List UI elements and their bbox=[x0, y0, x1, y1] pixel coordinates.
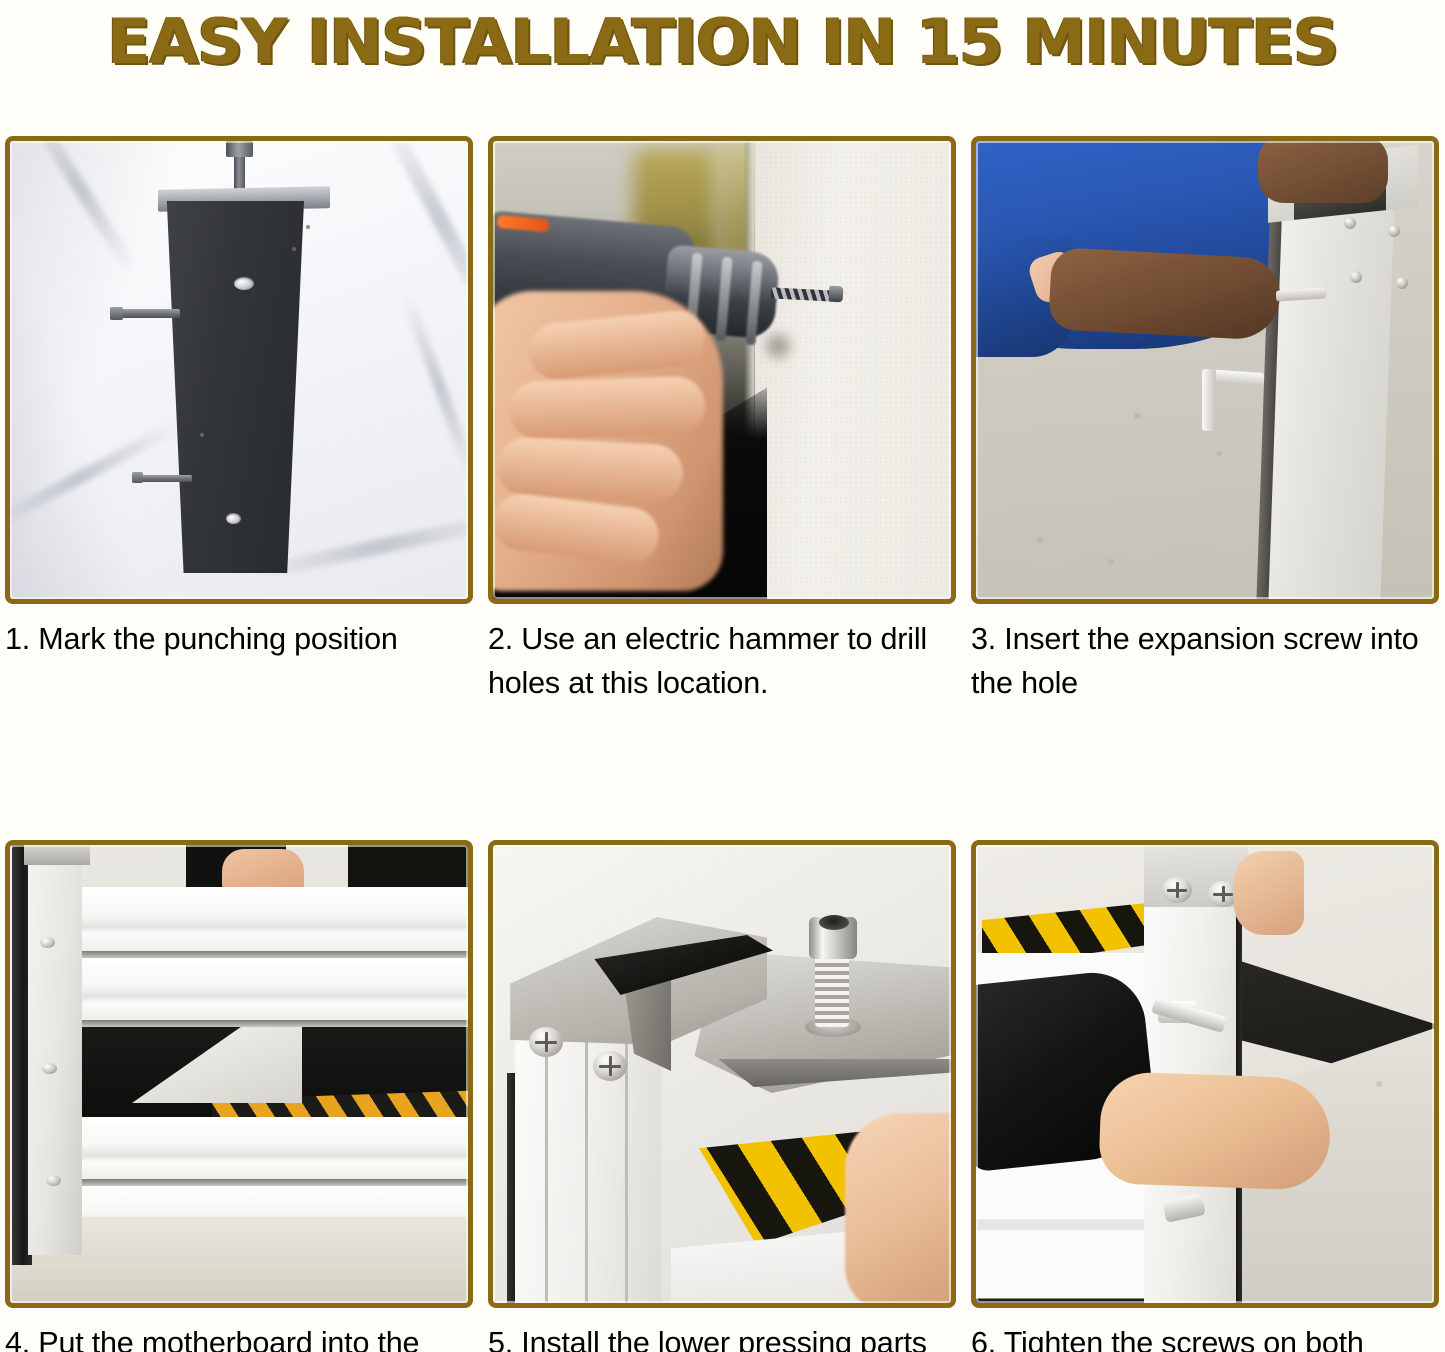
installer-thumb bbox=[845, 1113, 951, 1303]
phillips-screw bbox=[1162, 877, 1192, 903]
step-caption-4: 4. Put the motherboard into the card slo… bbox=[5, 1321, 473, 1352]
bolt-head-lower bbox=[132, 472, 143, 483]
column-screw bbox=[1344, 217, 1356, 229]
column-groove bbox=[545, 1015, 548, 1303]
column-screw bbox=[1396, 277, 1408, 289]
worker-second-hand bbox=[1258, 141, 1388, 203]
surface-speck bbox=[292, 247, 296, 251]
floor-speck bbox=[1036, 537, 1044, 543]
step-card-4: 4. Put the motherboard into the card slo… bbox=[5, 840, 473, 1352]
barrier-board bbox=[74, 1117, 468, 1179]
step-image-frame-4 bbox=[5, 840, 473, 1308]
page-title: EASY INSTALLATION IN 15 MINUTES bbox=[107, 11, 1337, 73]
step-photo-5 bbox=[493, 845, 951, 1303]
step-photo-2 bbox=[493, 141, 951, 599]
column-groove bbox=[585, 1015, 588, 1303]
step-photo-6 bbox=[976, 845, 1434, 1303]
column-screw bbox=[40, 937, 55, 948]
step-caption-1: 1. Mark the punching position bbox=[5, 617, 473, 661]
step-photo-3 bbox=[976, 141, 1434, 599]
step-image-frame-1 bbox=[5, 136, 473, 604]
expansion-bolt-lower bbox=[136, 475, 192, 482]
steps-row-top: 1. Mark the punching position bbox=[5, 136, 1440, 705]
step-image-frame-3 bbox=[971, 136, 1439, 604]
step-image-frame-5 bbox=[488, 840, 956, 1308]
column-screw bbox=[1388, 225, 1400, 237]
phillips-screw bbox=[593, 1051, 627, 1081]
floor-speck bbox=[1134, 413, 1141, 419]
barrier-board bbox=[74, 887, 468, 951]
column-cap bbox=[24, 845, 90, 865]
step-image-frame-2 bbox=[488, 136, 956, 604]
board-shadow bbox=[74, 951, 468, 958]
infographic-page: EASY INSTALLATION IN 15 MINUTES bbox=[0, 0, 1445, 1352]
step-photo-1 bbox=[10, 141, 468, 599]
phillips-screw bbox=[529, 1027, 563, 1057]
step-card-2: 2. Use an electric hammer to drill holes… bbox=[488, 136, 956, 705]
bolt-head-upper bbox=[110, 307, 123, 320]
board-shadow bbox=[74, 1020, 468, 1027]
column-hole-lower bbox=[226, 513, 241, 524]
column-screw bbox=[1350, 271, 1362, 283]
step-photo-4 bbox=[10, 845, 468, 1303]
bolt-socket-hole bbox=[819, 915, 849, 930]
drill-bit-tip bbox=[829, 286, 844, 303]
floor-speck bbox=[1216, 451, 1222, 456]
column-screw bbox=[42, 1063, 57, 1074]
barrier-board bbox=[74, 958, 468, 1020]
steps-row-bottom: 4. Put the motherboard into the card slo… bbox=[5, 840, 1440, 1352]
expansion-bolt-upper bbox=[114, 309, 180, 318]
step-caption-3: 3. Insert the expansion screw into the h… bbox=[971, 617, 1439, 705]
white-column bbox=[1268, 159, 1396, 599]
installer-second-hand bbox=[1234, 851, 1304, 935]
rod-nut bbox=[226, 141, 253, 157]
worker-arm bbox=[1048, 247, 1282, 341]
bolt-threaded-shaft bbox=[815, 951, 849, 1027]
slotted-column bbox=[28, 845, 82, 1255]
step-card-6: 6. Tighten the screws on both sides of t… bbox=[971, 840, 1439, 1352]
step-caption-5: 5. Install the lower pressing parts on b… bbox=[488, 1321, 956, 1352]
board-shadow bbox=[74, 1179, 468, 1186]
textured-wall bbox=[755, 141, 951, 599]
drilling-dust bbox=[761, 326, 795, 366]
floor-speck bbox=[1108, 559, 1114, 564]
allen-key-vertical bbox=[1202, 369, 1216, 431]
step-card-1: 1. Mark the punching position bbox=[5, 136, 473, 705]
step-card-5: 5. Install the lower pressing parts on b… bbox=[488, 840, 956, 1352]
step-caption-2: 2. Use an electric hammer to drill holes… bbox=[488, 617, 956, 705]
step-image-frame-6 bbox=[971, 840, 1439, 1308]
step-caption-6: 6. Tighten the screws on both sides of t… bbox=[971, 1321, 1439, 1352]
title-banner: EASY INSTALLATION IN 15 MINUTES bbox=[0, 0, 1445, 84]
surface-speck bbox=[306, 225, 310, 229]
surface-speck bbox=[200, 433, 204, 437]
floor-speck bbox=[1376, 1081, 1383, 1087]
column-hole-upper bbox=[234, 277, 254, 290]
step-card-3: 3. Insert the expansion screw into the h… bbox=[971, 136, 1439, 705]
installer-hand bbox=[1098, 1071, 1332, 1191]
column-screw bbox=[46, 1175, 61, 1186]
steps-grid: 1. Mark the punching position bbox=[5, 136, 1440, 1352]
finger bbox=[508, 376, 706, 441]
